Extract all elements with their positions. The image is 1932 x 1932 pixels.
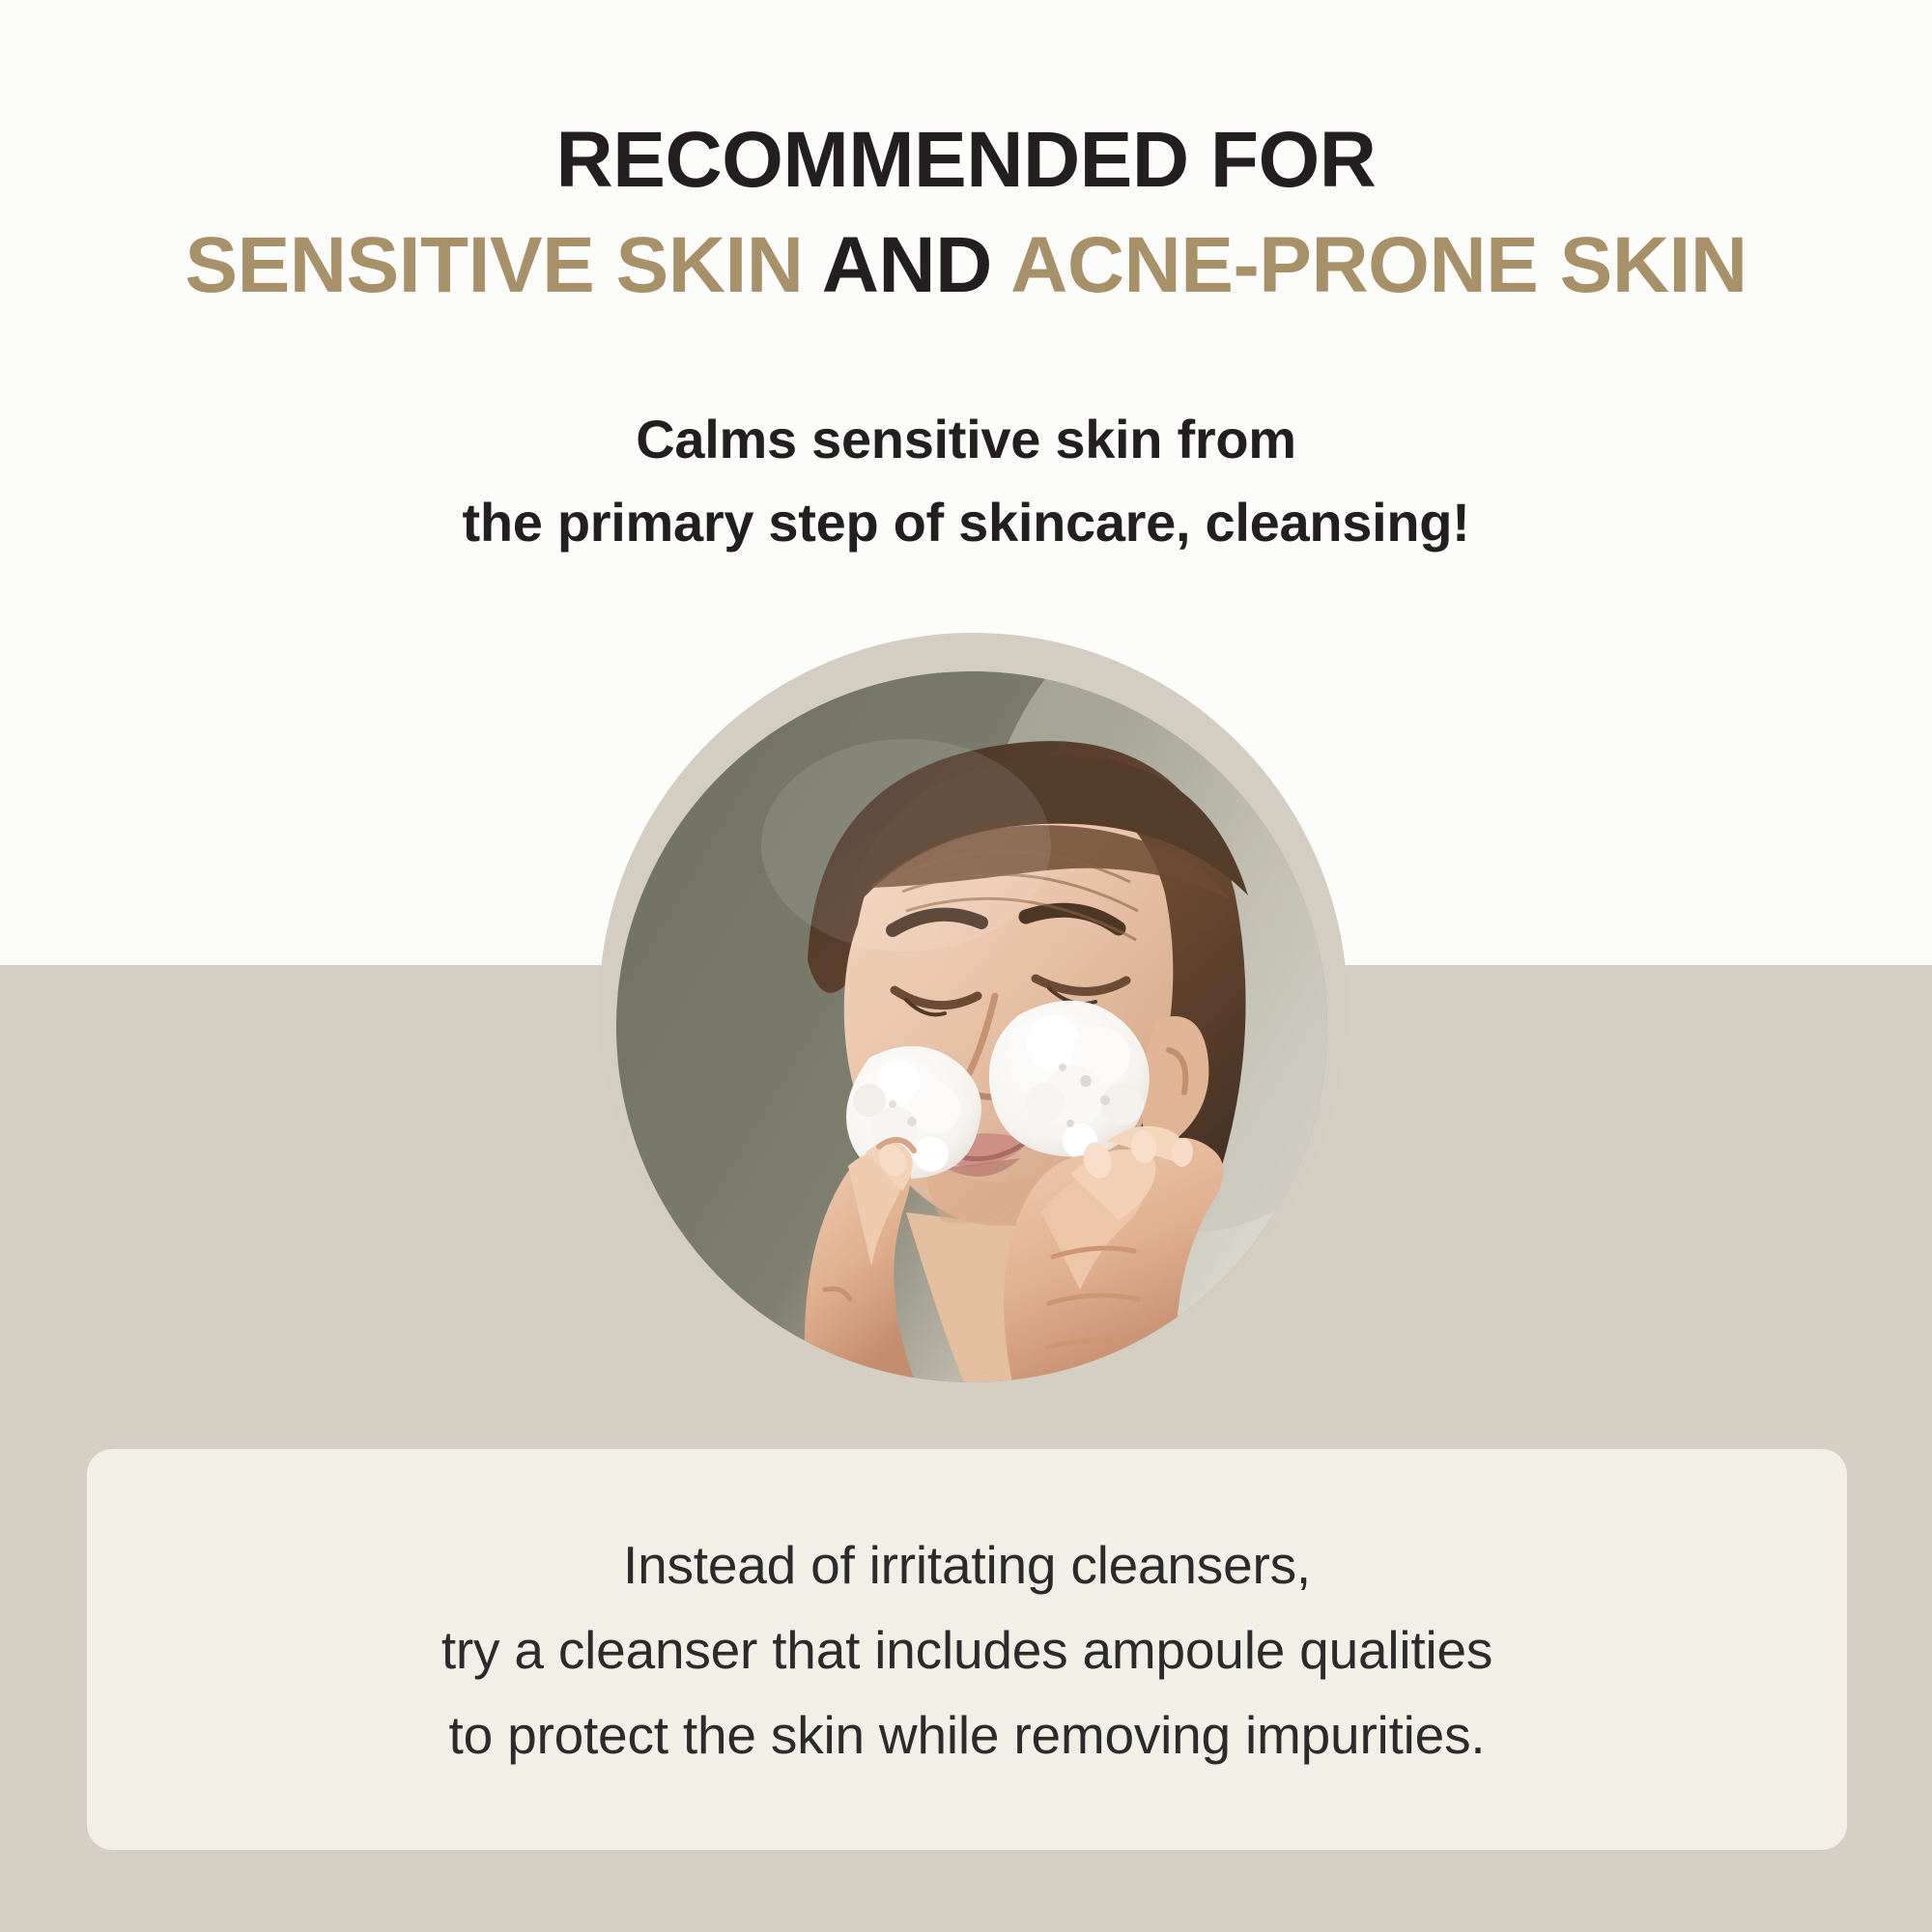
subtitle-line-1: Calms sensitive skin from — [0, 398, 1932, 481]
headline-line-2: SENSITIVE SKIN AND ACNE-PRONE SKIN — [0, 213, 1932, 319]
headline-and — [803, 221, 821, 309]
headline-spacer — [992, 221, 1010, 309]
info-card-line-1: Instead of irritating cleansers, — [87, 1522, 1847, 1607]
promo-page: RECOMMENDED FOR SENSITIVE SKIN AND ACNE-… — [0, 0, 1932, 1932]
info-card: Instead of irritating cleansers, try a c… — [87, 1449, 1847, 1850]
headline-line-1: RECOMMENDED FOR — [0, 114, 1932, 207]
info-card-line-2: try a cleanser that includes ampoule qua… — [87, 1607, 1847, 1692]
subtitle-block: Calms sensitive skin from the primary st… — [0, 398, 1932, 564]
headline-sensitive-skin: SENSITIVE SKIN — [185, 221, 803, 309]
headline-acne-prone-skin: ACNE-PRONE SKIN — [1010, 221, 1747, 309]
subtitle-line-2: the primary step of skincare, cleansing! — [0, 481, 1932, 564]
face-washing-photo — [616, 671, 1327, 1382]
face-washing-illustration — [616, 671, 1327, 1382]
headline-conjunction: AND — [822, 221, 992, 309]
info-card-line-3: to protect the skin while removing impur… — [87, 1692, 1847, 1777]
headline-block: RECOMMENDED FOR SENSITIVE SKIN AND ACNE-… — [0, 114, 1932, 319]
